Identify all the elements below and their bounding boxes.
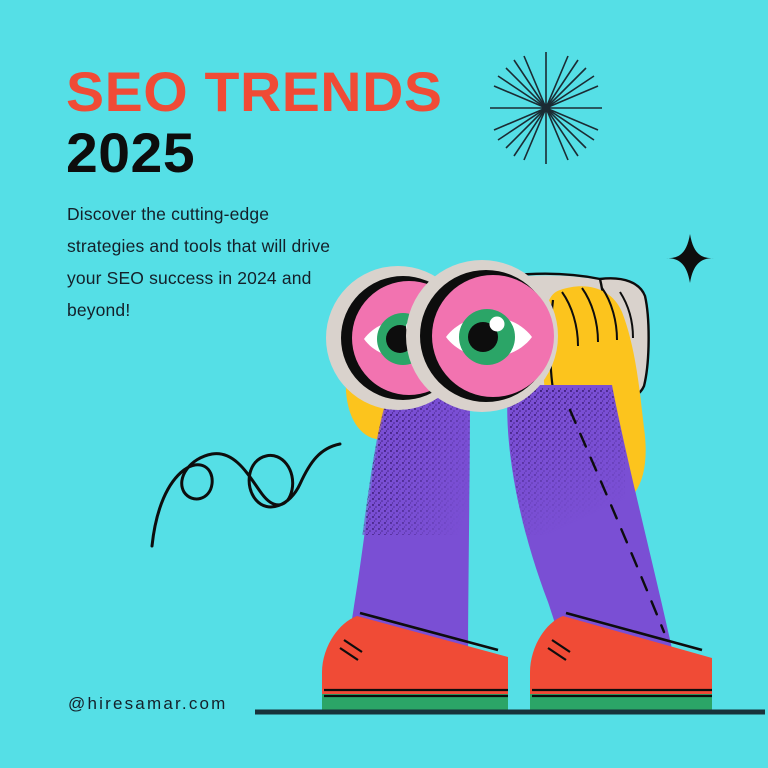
page-title-year: 2025 xyxy=(66,125,195,181)
subtitle-text: Discover the cutting-edge strategies and… xyxy=(67,198,347,326)
four-point-sparkle-icon xyxy=(666,234,714,283)
social-handle: @hiresamar.com xyxy=(68,694,228,714)
poster-canvas: SEO TRENDS 2025 Discover the cutting-edg… xyxy=(0,0,768,768)
starburst-burst-icon xyxy=(490,52,602,164)
curly-doodle-line xyxy=(152,444,340,546)
page-title: SEO TRENDS xyxy=(66,64,442,120)
